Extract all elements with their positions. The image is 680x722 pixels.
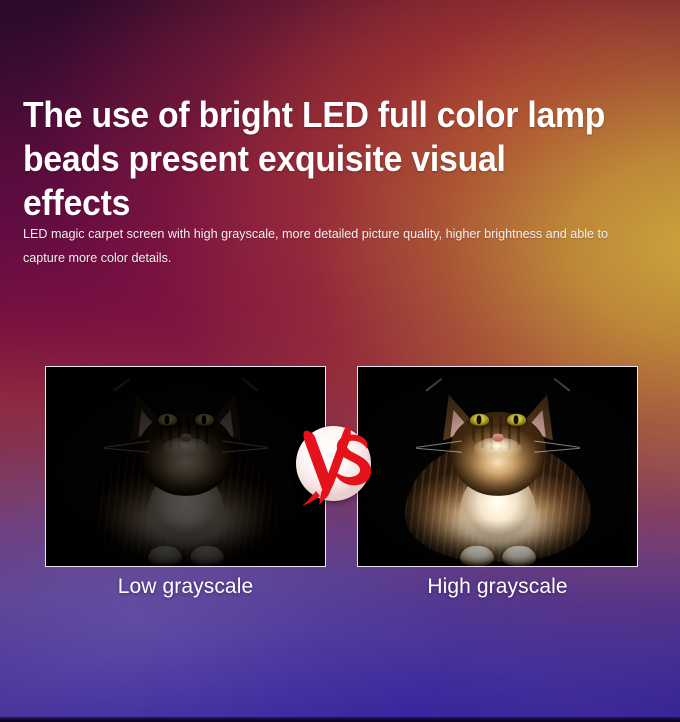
caption-low-grayscale: Low grayscale [45,573,326,601]
grayscale-comparison: Low grayscale High grayscale [0,0,680,722]
cat-ear-tuft-right [241,377,258,391]
comparison-panel-low-grayscale [45,366,326,567]
cat-illustration [81,377,291,566]
cat-ear-tuft-right [553,377,570,391]
cat-eye-right [195,413,214,425]
banner-content: The use of bright LED full color lamp be… [0,0,680,722]
cat-eye-left [470,413,489,425]
versus-icon [288,417,380,509]
cat-ear-tuft-left [113,377,130,391]
cat-nose [492,433,503,441]
cat-photo-low-grayscale [46,367,325,566]
cat-paw-right [190,545,224,565]
cat-paw-left [148,545,182,565]
caption-high-grayscale: High grayscale [357,573,638,601]
cat-nose [180,433,191,441]
cat-paw-left [460,545,494,565]
comparison-panel-high-grayscale [357,366,638,567]
promo-banner: The use of bright LED full color lamp be… [0,0,680,722]
cat-eye-right [507,413,526,425]
cat-illustration [393,377,603,566]
cat-eye-left [158,413,177,425]
cat-paw-right [502,545,536,565]
versus-badge [294,423,374,503]
cat-ear-tuft-left [425,377,442,391]
cat-photo-high-grayscale [358,367,637,566]
